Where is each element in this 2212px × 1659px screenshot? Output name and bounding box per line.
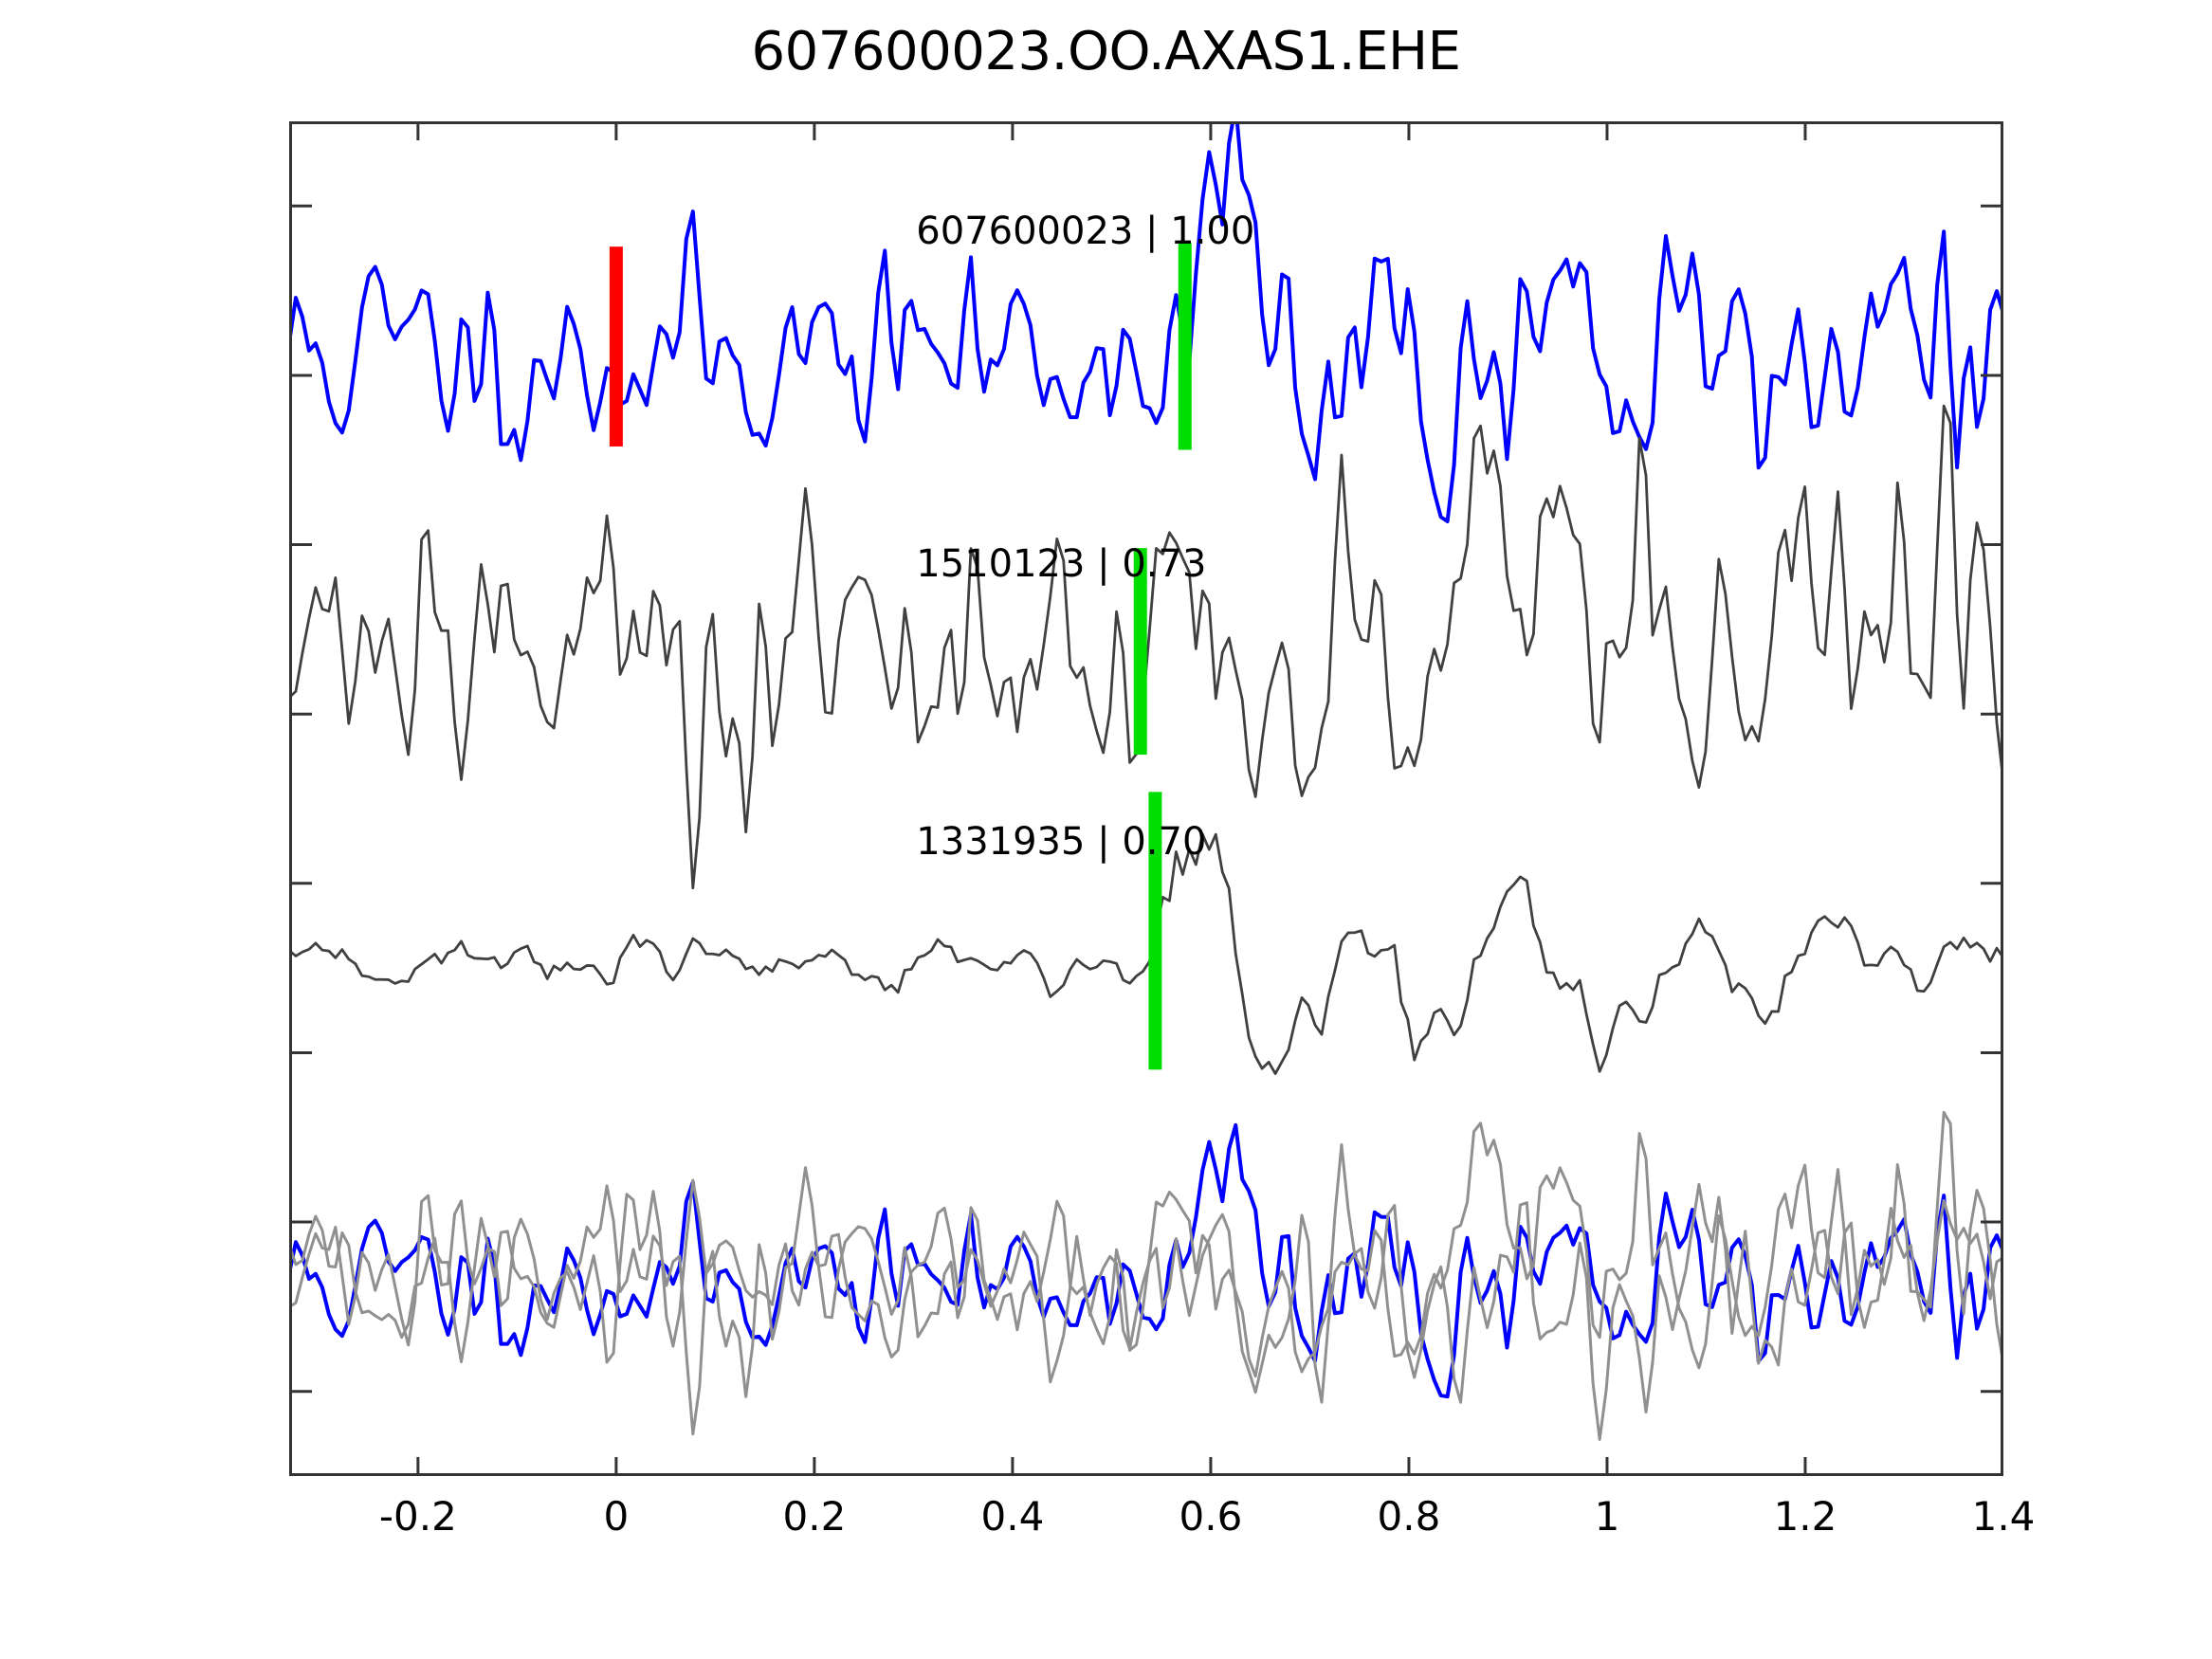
x-axis-tick-label: 0.8 — [1378, 1493, 1441, 1540]
trace-label-607600023: 607600023 | 1.00 — [916, 210, 1254, 253]
x-axis-tick-label: 0.4 — [981, 1493, 1045, 1540]
x-axis-tick-label: 0 — [604, 1493, 630, 1540]
x-axis-tick-label: -0.2 — [379, 1493, 457, 1540]
x-axis-tick-label: 1.2 — [1774, 1493, 1837, 1540]
waveform-trace-overlay-1331935 — [289, 1180, 2003, 1439]
x-axis-tick-label: 1 — [1595, 1493, 1620, 1540]
plot-area — [289, 121, 2003, 1476]
x-axis-tick-label: 0.6 — [1179, 1493, 1243, 1540]
waveform-trace-607600023 — [289, 121, 2003, 521]
page-title: 607600023.OO.AXAS1.EHE — [0, 21, 2212, 82]
pick-marker-detection-607600023 — [1179, 244, 1192, 450]
x-axis-tick-label: 0.2 — [782, 1493, 846, 1540]
trace-label-1510123: 1510123 | 0.73 — [916, 542, 1206, 586]
pick-marker-reference-607600023 — [610, 246, 623, 447]
trace-label-1331935: 1331935 | 0.70 — [916, 820, 1206, 864]
waveform-canvas — [289, 121, 2003, 1476]
waveform-trace-1331935 — [289, 834, 2003, 1073]
waveform-figure: 607600023.OO.AXAS1.EHE 607600023 | 1.001… — [0, 0, 2212, 1659]
x-axis-tick-label: 1.4 — [1972, 1493, 2036, 1540]
waveform-trace-overlay-607600023 — [289, 1125, 2003, 1396]
